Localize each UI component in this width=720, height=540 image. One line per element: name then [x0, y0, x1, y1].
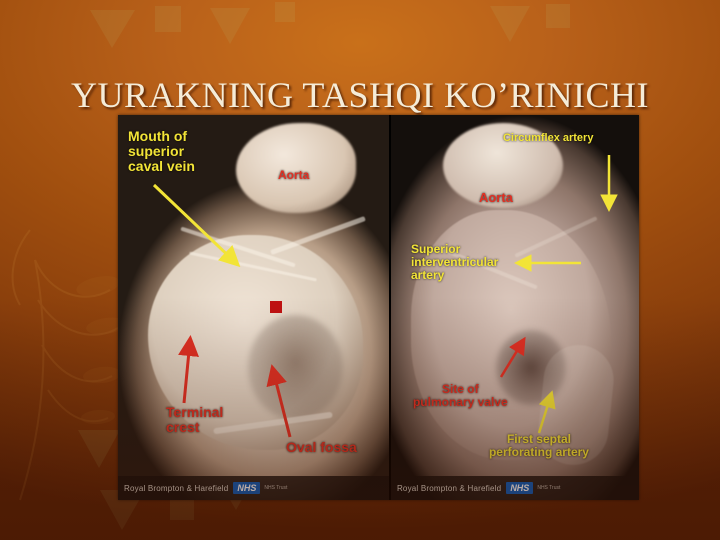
label-aorta-right: Aorta [479, 191, 513, 205]
label-circumflex-artery: Circumflex artery [503, 133, 594, 145]
label-oval-fossa: Oval fossa [286, 440, 357, 455]
page-title: YURAKNING TASHQI KO’RINICHI [0, 74, 720, 116]
nhs-logo-right: NHS [506, 482, 533, 494]
right-credit-bar: Royal Brompton & Harefield NHS NHS Trust [391, 476, 639, 500]
label-first-septal-perforating-artery: First septal perforating artery [489, 433, 589, 459]
left-credit-subtext: NHS Trust [264, 485, 287, 491]
left-fossa-shadow [248, 315, 343, 420]
label-mouth-of-superior-caval-vein: Mouth of superior caval vein [128, 129, 195, 174]
presentation-slide: YURAKNING TASHQI KO’RINICHI Mouth of sup… [0, 0, 720, 540]
marker-square [270, 301, 282, 313]
right-panel: Circumflex artery Aorta Superior interve… [389, 115, 639, 500]
nhs-logo-left: NHS [233, 482, 260, 494]
left-panel: Mouth of superior caval vein Aorta Termi… [118, 115, 389, 500]
label-site-of-pulmonary-valve: Site of pulmonary valve [413, 383, 508, 409]
left-credit-text: Royal Brompton & Harefield [124, 484, 228, 493]
left-credit-bar: Royal Brompton & Harefield NHS NHS Trust [118, 476, 389, 500]
figure-image: Mouth of superior caval vein Aorta Termi… [118, 115, 639, 500]
label-aorta-left: Aorta [278, 169, 309, 182]
label-superior-interventricular-artery: Superior interventricular artery [411, 243, 498, 282]
right-credit-text: Royal Brompton & Harefield [397, 484, 501, 493]
right-credit-subtext: NHS Trust [537, 485, 560, 491]
label-terminal-crest: Terminal crest [166, 405, 223, 435]
